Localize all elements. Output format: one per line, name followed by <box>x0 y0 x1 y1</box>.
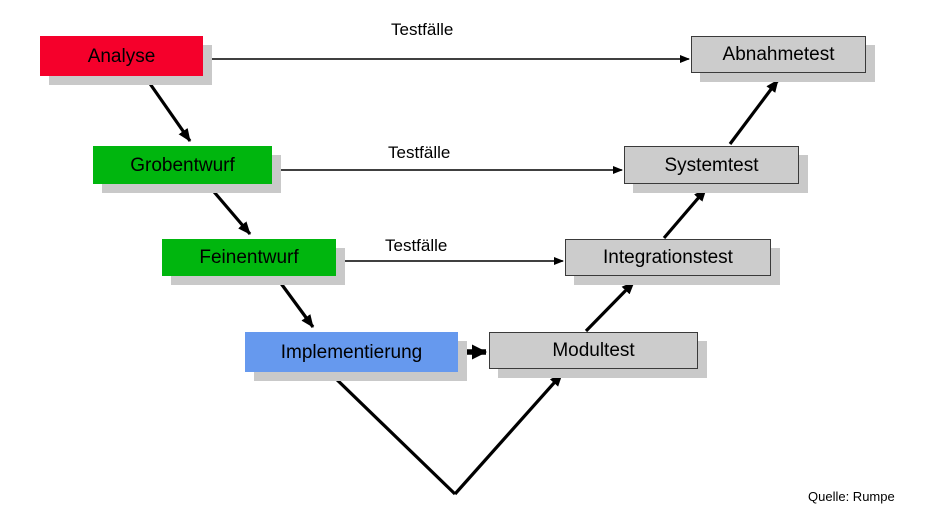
node-grobentwurf-label: Grobentwurf <box>130 156 235 175</box>
edge-implementierung-v-left <box>330 373 455 494</box>
source-note: Quelle: Rumpe <box>808 490 895 503</box>
node-feinentwurf-label: Feinentwurf <box>199 248 298 267</box>
edge-modultest-to-integrationstest <box>586 282 634 331</box>
edge-analyse-to-grobentwurf <box>146 78 190 141</box>
node-implementierung-label: Implementierung <box>281 343 423 362</box>
edge-label-testfaelle-2: Testfälle <box>388 144 450 161</box>
edge-v-right-to-modultest <box>455 374 562 494</box>
edge-label-testfaelle-1: Testfälle <box>391 21 453 38</box>
edge-label-testfaelle-3: Testfälle <box>385 237 447 254</box>
node-systemtest[interactable]: Systemtest <box>624 146 799 184</box>
edge-feinentwurf-to-implementierung <box>277 278 313 327</box>
edge-grobentwurf-to-feinentwurf <box>209 186 250 234</box>
node-analyse[interactable]: Analyse <box>40 36 203 76</box>
node-systemtest-label: Systemtest <box>665 156 759 175</box>
node-implementierung[interactable]: Implementierung <box>245 332 458 372</box>
node-modultest[interactable]: Modultest <box>489 332 698 369</box>
edge-systemtest-to-abnahmetest <box>730 80 778 144</box>
node-grobentwurf[interactable]: Grobentwurf <box>93 146 272 184</box>
v-model-diagram-canvas: Analyse Grobentwurf Feinentwurf Implemen… <box>0 0 951 517</box>
node-modultest-label: Modultest <box>552 341 634 360</box>
node-feinentwurf[interactable]: Feinentwurf <box>162 239 336 276</box>
edge-integrationstest-to-systemtest <box>664 189 706 238</box>
node-integrationstest[interactable]: Integrationstest <box>565 239 771 276</box>
node-integrationstest-label: Integrationstest <box>603 248 733 267</box>
node-abnahmetest-label: Abnahmetest <box>723 45 835 64</box>
node-abnahmetest[interactable]: Abnahmetest <box>691 36 866 73</box>
node-analyse-label: Analyse <box>88 47 156 66</box>
